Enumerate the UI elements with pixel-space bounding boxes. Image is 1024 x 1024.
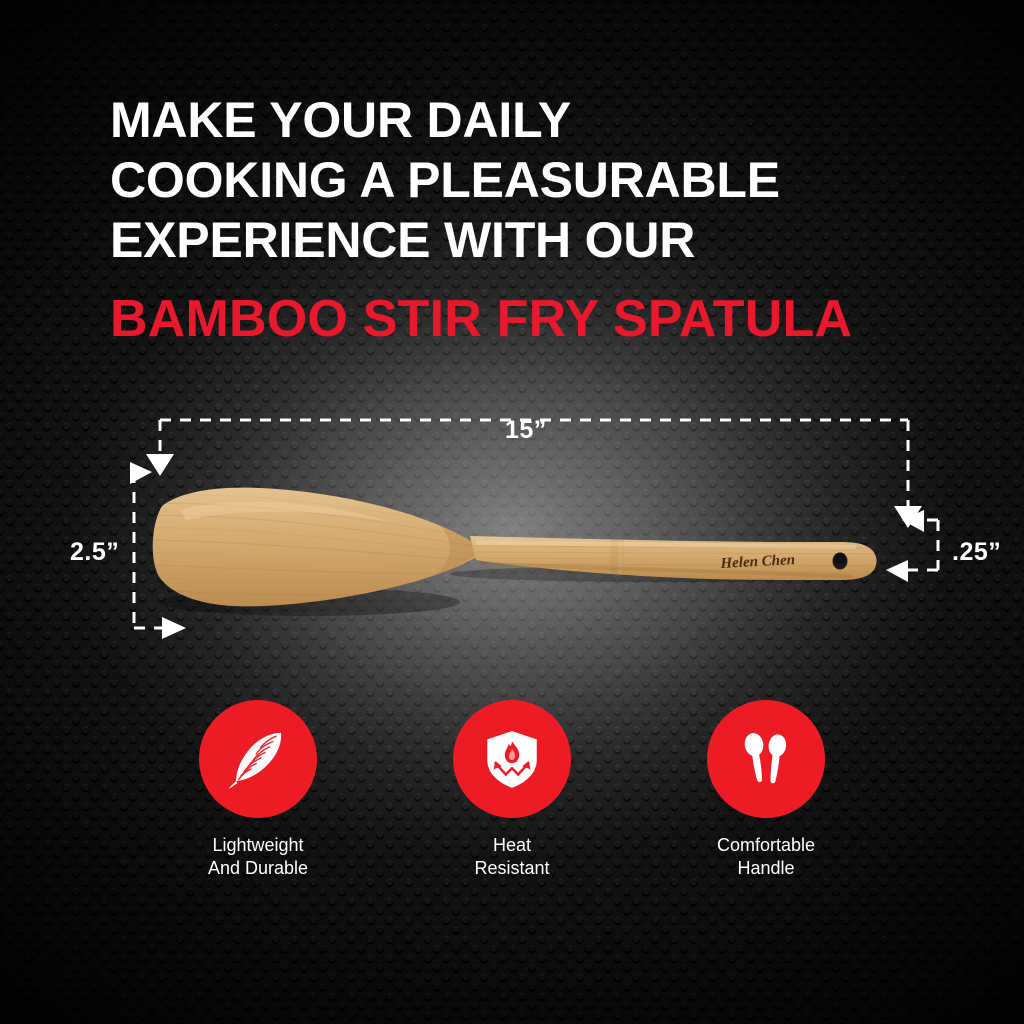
spatula-blade <box>140 488 490 607</box>
arrow-right-lower-left <box>162 617 186 639</box>
dimension-label-thickness: .25” <box>952 538 1001 567</box>
feature-badge-circle-1 <box>199 700 317 818</box>
bamboo-spatula-image: Helen Chen <box>140 470 930 620</box>
infographic-canvas: MAKE YOUR DAILY COOKING A PLEASURABLE EX… <box>0 0 1024 1024</box>
dimension-label-length: 15” <box>505 416 547 445</box>
product-name-heading: BAMBOO STIR FRY SPATULA <box>110 288 950 350</box>
feature-caption-2: Heat Resistant <box>414 834 610 880</box>
feather-icon <box>223 724 293 794</box>
feature-badges: Lightweight And Durable <box>0 700 1024 880</box>
feature-lightweight: Lightweight And Durable <box>160 700 356 880</box>
headline-line-1: MAKE YOUR DAILY <box>110 90 950 150</box>
dimension-label-width: 2.5” <box>70 538 119 567</box>
feature-caption-1: Lightweight And Durable <box>160 834 356 880</box>
feature-badge-circle-2 <box>453 700 571 818</box>
headline-block: MAKE YOUR DAILY COOKING A PLEASURABLE EX… <box>110 90 950 350</box>
heat-shield-icon <box>479 726 545 792</box>
product-dimension-section: .dash { stroke:#ffffff; stroke-width:3; … <box>0 380 1024 680</box>
feature-caption-3: Comfortable Handle <box>668 834 864 880</box>
feature-heat-resistant: Heat Resistant <box>414 700 610 880</box>
feature-badge-circle-3 <box>707 700 825 818</box>
utensils-icon <box>735 728 797 790</box>
headline-line-2: COOKING A PLEASURABLE <box>110 150 950 210</box>
feature-comfortable-handle: Comfortable Handle <box>668 700 864 880</box>
headline-line-3: EXPERIENCE WITH OUR <box>110 210 950 270</box>
